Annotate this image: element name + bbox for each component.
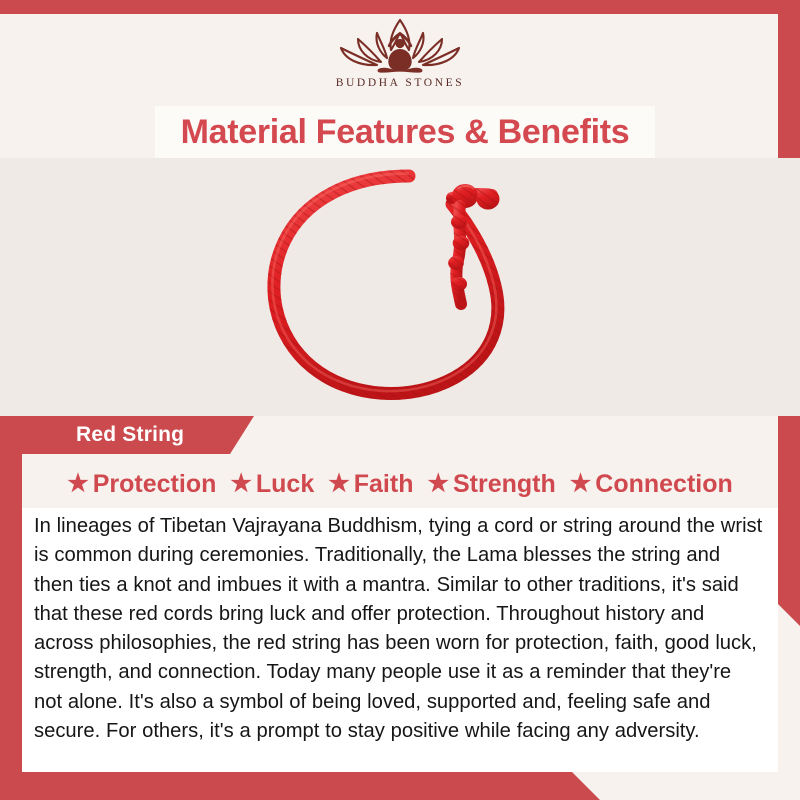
benefit-label: Strength <box>453 470 556 499</box>
decor-top-band <box>0 0 800 14</box>
star-icon: ★ <box>67 472 89 496</box>
red-string-bracelet-image <box>252 164 552 414</box>
star-icon: ★ <box>328 472 350 496</box>
brand-name: BUDDHA STONES <box>336 77 464 89</box>
decor-bottom-band <box>0 772 600 800</box>
product-photo-panel <box>0 158 800 416</box>
benefit-item-strength: ★ Strength <box>422 470 560 499</box>
benefit-label: Luck <box>256 470 314 499</box>
title-band: Material Features & Benefits <box>155 106 655 158</box>
description-text: In lineages of Tibetan Vajrayana Buddhis… <box>34 512 764 746</box>
description-panel: In lineages of Tibetan Vajrayana Buddhis… <box>22 508 778 772</box>
brand-logo: BUDDHA STONES <box>0 14 800 106</box>
benefit-item-faith: ★ Faith <box>323 470 418 499</box>
benefit-item-connection: ★ Connection <box>565 470 738 499</box>
product-label-banner: Red String <box>22 416 254 454</box>
lotus-meditation-icon <box>325 14 475 76</box>
benefits-row: ★ Protection ★ Luck ★ Faith ★ Strength ★… <box>22 462 778 506</box>
infographic-page: BUDDHA STONES Material Features & Benefi… <box>0 0 800 800</box>
star-icon: ★ <box>570 472 592 496</box>
benefit-item-protection: ★ Protection <box>62 470 221 499</box>
benefit-item-luck: ★ Luck <box>225 470 319 499</box>
page-title: Material Features & Benefits <box>181 113 630 152</box>
benefit-label: Faith <box>354 470 414 499</box>
star-icon: ★ <box>427 472 449 496</box>
benefit-label: Protection <box>93 470 217 499</box>
product-label-text: Red String <box>22 423 184 447</box>
star-icon: ★ <box>230 472 252 496</box>
benefit-label: Connection <box>595 470 733 499</box>
